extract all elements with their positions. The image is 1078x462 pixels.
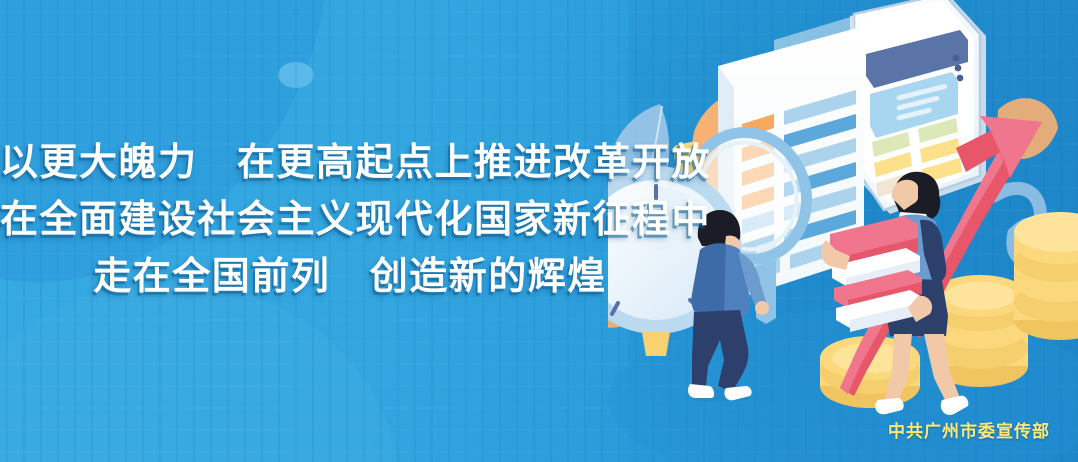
headline-line-1: 以更大魄力 在更高起点上推进改革开放 — [0, 134, 700, 191]
headline-block: 以更大魄力 在更高起点上推进改革开放 在全面建设社会主义现代化国家新征程中 走在… — [0, 134, 700, 305]
promotional-banner: 以更大魄力 在更高起点上推进改革开放 在全面建设社会主义现代化国家新征程中 走在… — [0, 0, 1078, 462]
issuer-label: 中共广州市委宣传部 — [888, 417, 1050, 442]
headline-line-2: 在全面建设社会主义现代化国家新征程中 — [0, 191, 700, 248]
coin-stack-right-icon — [1014, 212, 1078, 340]
headline-line-3: 走在全国前列 创造新的辉煌 — [0, 248, 700, 305]
